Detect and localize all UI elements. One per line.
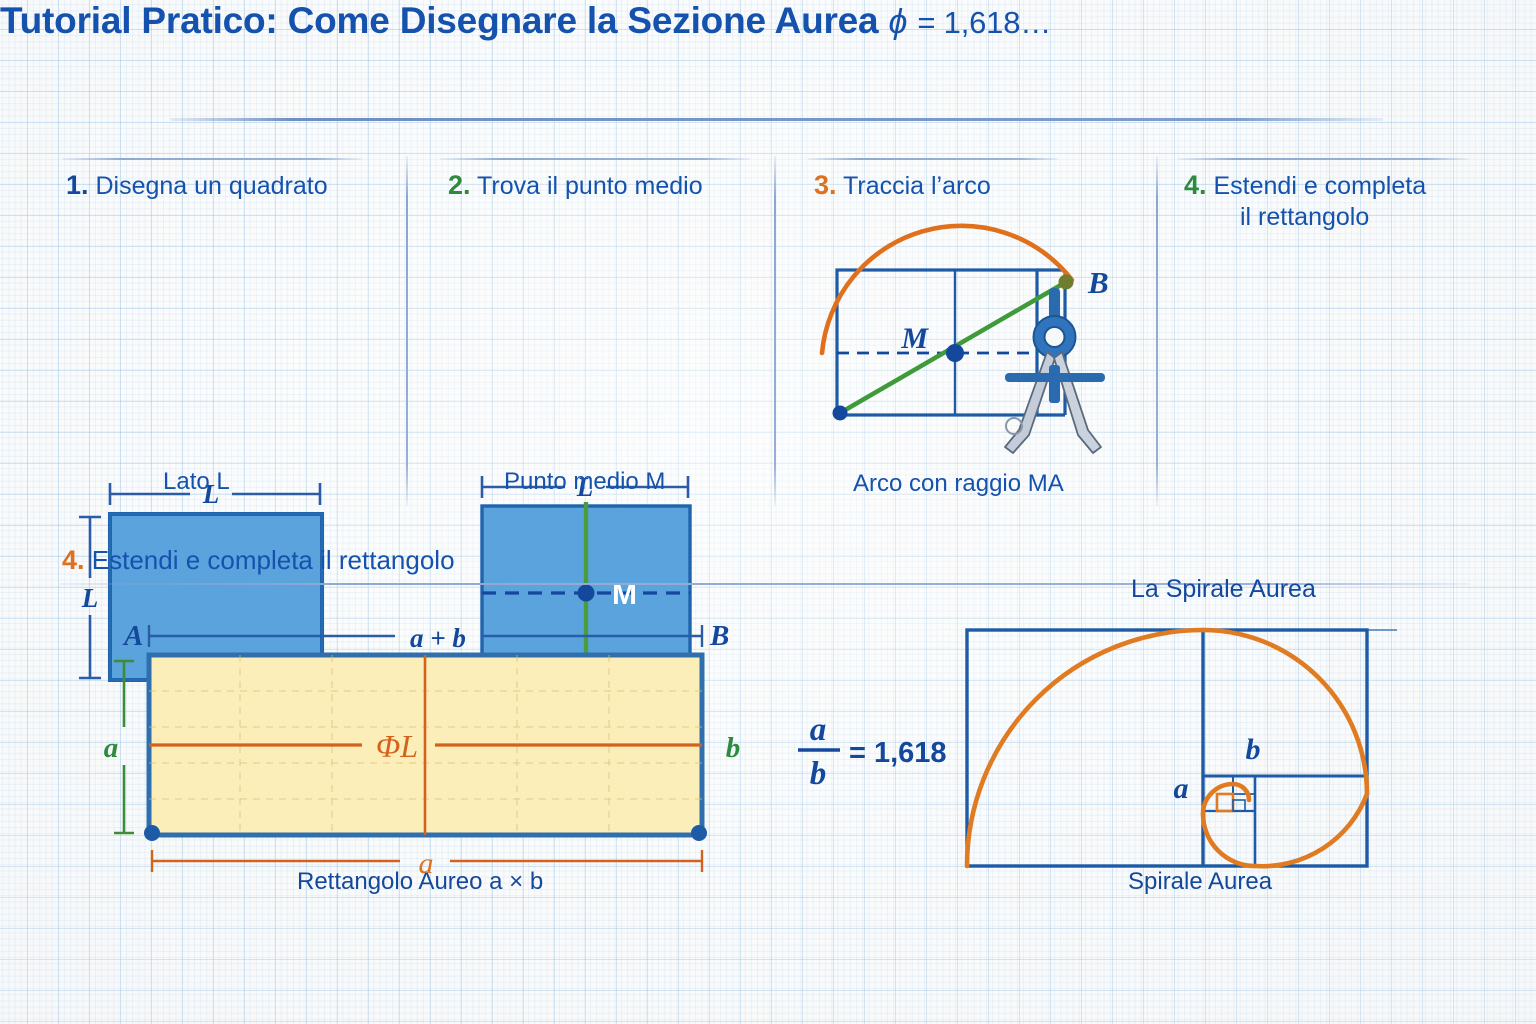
- panel-3-caption: Arco con raggio MA: [853, 470, 1064, 498]
- section-4-header: 4. Estendi e completa il rettangolo: [62, 545, 455, 576]
- step-3-topline: [808, 158, 1058, 160]
- panel-2-caption: Punto medio M: [504, 468, 665, 496]
- formula-value: = 1,618: [849, 737, 947, 769]
- spiral-inner-square-2: [1233, 800, 1245, 811]
- point-b-label: B: [1087, 265, 1109, 300]
- spiral-label-b: b: [1246, 733, 1261, 766]
- phi-value: = 1,618…: [917, 5, 1051, 40]
- point-b-dot: [1059, 275, 1074, 290]
- point-m-label: M: [900, 322, 929, 355]
- step-2-number: 2.: [448, 170, 471, 200]
- point-m-dot: [946, 344, 964, 362]
- section-4-number: 4.: [62, 545, 85, 575]
- formula-numerator: a: [810, 712, 827, 748]
- square-outline: [837, 270, 1037, 415]
- step-2-header: 2. Trova il punto medio: [448, 170, 703, 201]
- step-1-label: Disegna un quadrato: [95, 172, 327, 200]
- golden-rectangle-diagram: A B a + b ΦL: [90, 605, 780, 905]
- dimension-right-label: b: [726, 732, 741, 764]
- step-2-topline: [440, 158, 750, 160]
- step-4-label-line1: Estendi e completa: [1213, 172, 1426, 200]
- step-1-topline: [62, 158, 362, 160]
- corner-a-label: A: [122, 620, 143, 652]
- golden-rectangle-caption: Rettangolo Aureo a × b: [297, 868, 543, 896]
- point-a-dot: [833, 406, 848, 421]
- step-1-number: 1.: [66, 170, 89, 200]
- step-4-topline: [1178, 158, 1468, 160]
- compass-icon: [1005, 288, 1105, 453]
- formula-denominator: b: [810, 756, 827, 792]
- ratio-formula: a b = 1,618: [795, 700, 955, 790]
- panel-separator-1: [406, 156, 408, 506]
- corner-b-label: B: [709, 620, 729, 652]
- step-2-label: Trova il punto medio: [477, 172, 703, 200]
- section-4-label: Estendi e completa il rettangolo: [92, 545, 455, 575]
- corner-dot-bottom-left: [144, 825, 160, 841]
- step-1-header: 1. Disegna un quadrato: [66, 170, 328, 201]
- phi-l-label: ΦL: [376, 728, 418, 764]
- panel-1-caption: Lato L: [163, 468, 230, 496]
- spiral-curve: [967, 630, 1367, 866]
- page-title: Tutorial Pratico: Come Disegnare la Sezi…: [0, 0, 1536, 42]
- dimension-top-label: a + b: [410, 623, 466, 653]
- step-4-header-line2: il rettangolo: [1240, 203, 1369, 232]
- title-underline: [170, 118, 1383, 121]
- page-title-text: Tutorial Pratico: Come Disegnare la Sezi…: [0, 0, 878, 41]
- phi-symbol: ϕ: [889, 3, 908, 41]
- step-3-number: 3.: [814, 170, 837, 200]
- corner-dot-bottom-right: [691, 825, 707, 841]
- step-4-header: 4. Estendi e completa: [1184, 170, 1426, 201]
- spiral-inner-square: [1217, 794, 1233, 811]
- step-4-label-line2: il rettangolo: [1240, 203, 1369, 231]
- step-3-label: Traccia l’arco: [843, 172, 991, 200]
- step-3-header: 3. Traccia l’arco: [814, 170, 991, 201]
- golden-spiral-diagram: a b: [965, 628, 1375, 868]
- spiral-title: La Spirale Aurea: [1131, 575, 1316, 604]
- spiral-label-a: a: [1174, 772, 1189, 805]
- panel-separator-2: [774, 156, 776, 506]
- spiral-caption: Spirale Aurea: [1128, 868, 1272, 896]
- dimension-left-label: a: [104, 732, 119, 764]
- step-4-number: 4.: [1184, 170, 1207, 200]
- midpoint-dot: [578, 585, 595, 602]
